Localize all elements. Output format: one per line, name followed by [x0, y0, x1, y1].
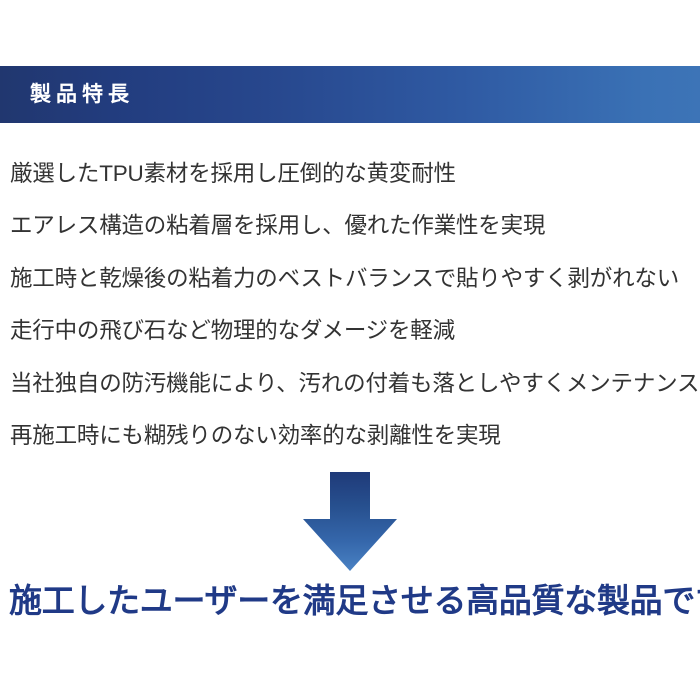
product-features-panel: 製品特長 厳選したTPU素材を採用し圧倒的な黄変耐性 エアレス構造の粘着層を採用…	[0, 0, 700, 700]
feature-line: 走行中の飛び石など物理的なダメージを軽減	[10, 305, 700, 357]
feature-line: 当社独自の防汚機能により、汚れの付着も落としやすくメンテナンスが容易	[10, 358, 700, 410]
feature-line: 再施工時にも糊残りのない効率的な剥離性を実現	[10, 410, 700, 462]
feature-line: エアレス構造の粘着層を採用し、優れた作業性を実現	[10, 200, 700, 252]
feature-line: 施工時と乾燥後の粘着力のベストバランスで貼りやすく剥がれない	[10, 253, 700, 305]
conclusion-headline: 施工したユーザーを満足させる高品質な製品です	[9, 578, 700, 624]
section-header-title: 製品特長	[30, 84, 134, 105]
feature-list: 厳選したTPU素材を採用し圧倒的な黄変耐性 エアレス構造の粘着層を採用し、優れた…	[10, 148, 700, 462]
section-header-bar: 製品特長	[0, 66, 700, 123]
arrow-down-icon	[303, 472, 397, 571]
feature-line: 厳選したTPU素材を採用し圧倒的な黄変耐性	[10, 148, 700, 200]
